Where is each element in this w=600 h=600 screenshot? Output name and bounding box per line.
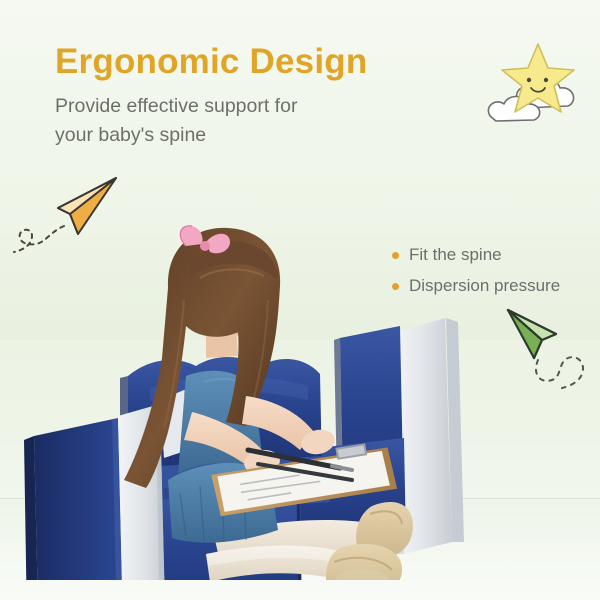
- paper-plane-green-icon: [500, 300, 600, 400]
- feature-list: Fit the spine Dispersion pressure: [392, 245, 592, 307]
- paper-plane-orange-icon: [8, 168, 126, 256]
- marketing-image: Ergonomic Design Provide effective suppo…: [0, 0, 600, 600]
- feature-label: Dispersion pressure: [409, 276, 560, 296]
- feature-label: Fit the spine: [409, 245, 502, 265]
- list-item: Dispersion pressure: [392, 276, 592, 296]
- page-subtitle: Provide effective support for your baby'…: [55, 92, 385, 150]
- subtitle-line-1: Provide effective support for: [55, 92, 385, 121]
- list-item: Fit the spine: [392, 245, 592, 265]
- bullet-dot-icon: [392, 283, 399, 290]
- subtitle-line-2: your baby's spine: [55, 121, 385, 150]
- bullet-dot-icon: [392, 252, 399, 259]
- page-title: Ergonomic Design: [55, 42, 367, 82]
- star-cloud-icon: [482, 28, 594, 133]
